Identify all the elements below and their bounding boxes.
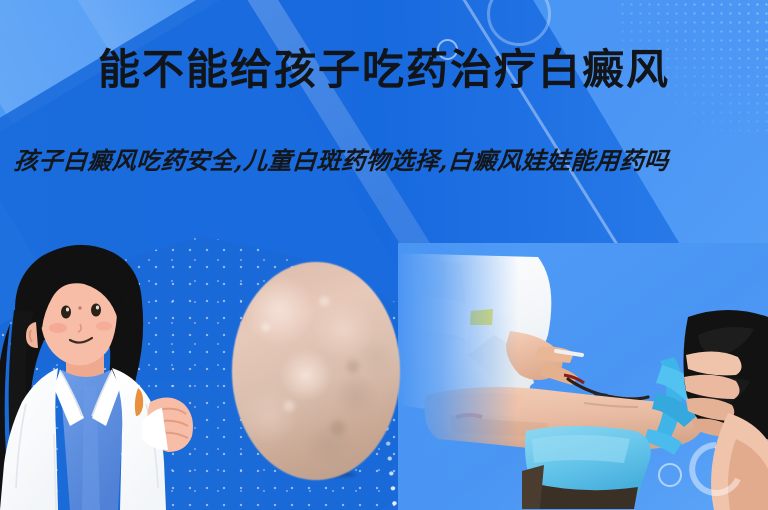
ring-outline-icon (487, 0, 551, 46)
blood-draw-photo (398, 243, 768, 510)
vitiligo-skin-closeup (232, 262, 400, 480)
female-doctor-illustration (0, 236, 230, 510)
poster-canvas: 能不能给孩子吃药治疗白癜风 孩子白癜风吃药安全,儿童白斑药物选择,白癜风娃娃能用… (0, 0, 768, 510)
page-subtitle: 孩子白癜风吃药安全,儿童白斑药物选择,白癜风娃娃能用药吗 (13, 146, 747, 175)
page-title: 能不能给孩子吃药治疗白癜风 (0, 47, 768, 92)
